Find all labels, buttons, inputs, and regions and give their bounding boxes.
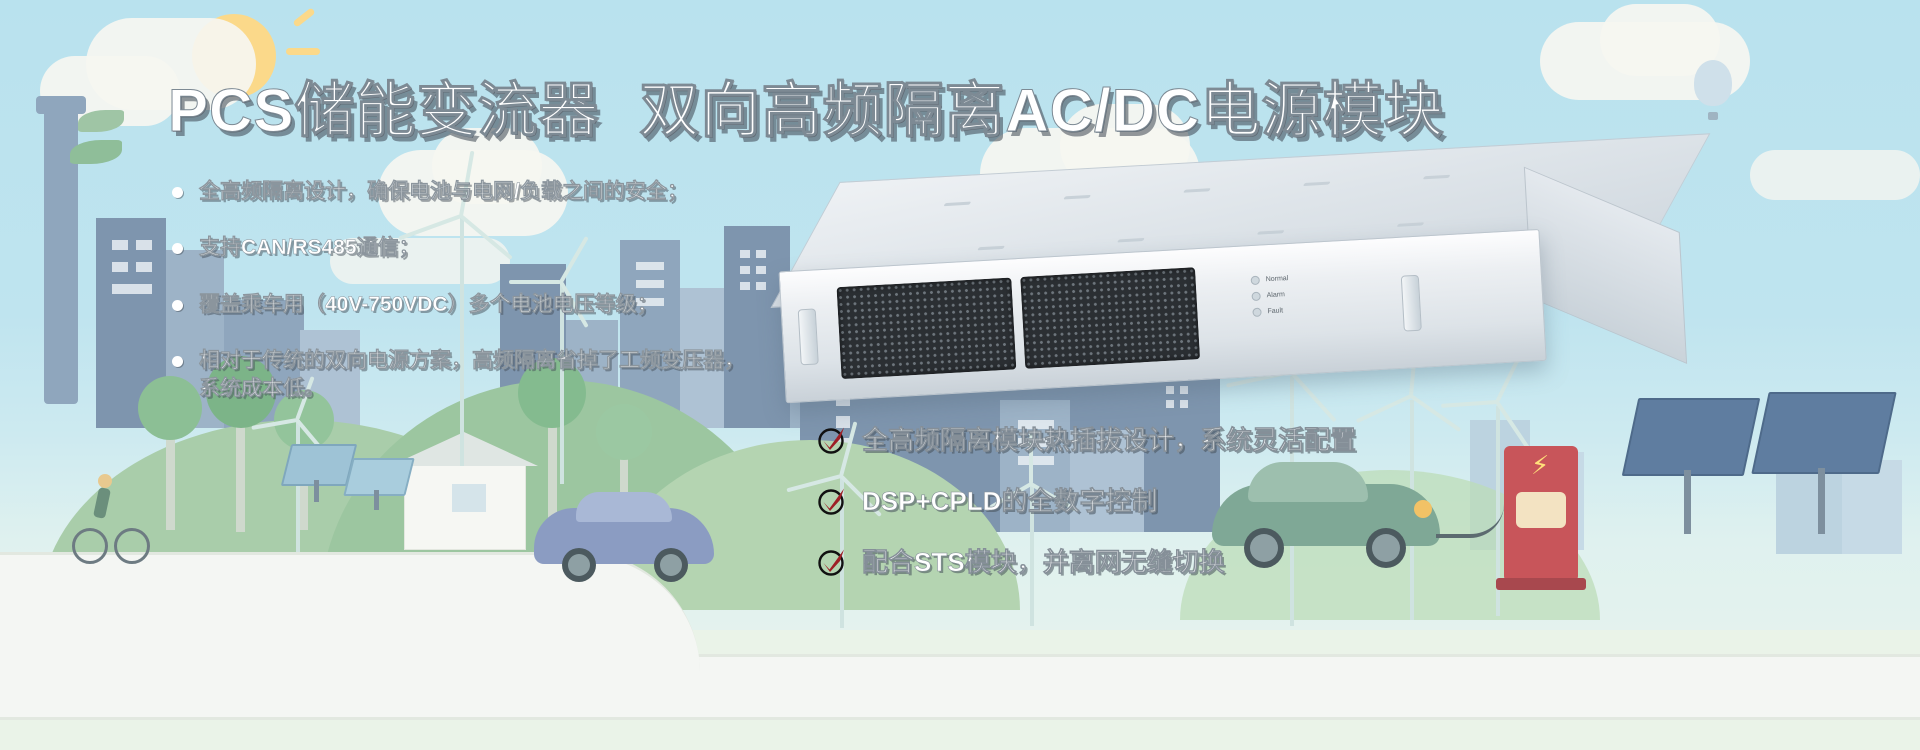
check-circle-icon (816, 544, 850, 578)
highlight-text: 配合STS模块，并离网无缝切换 (862, 542, 1225, 579)
window-shape (112, 262, 128, 272)
ev-headlight-icon (1414, 500, 1432, 518)
led-dot-icon (1252, 308, 1261, 317)
device-vent-grille (1020, 267, 1200, 369)
car-wheel-icon (562, 548, 596, 582)
feature-item: 支持CAN/RS485通信； (172, 234, 872, 262)
feature-text: 相对于传统的双向电源方案，高频隔离省掉了工频变压器，系统成本低。 (199, 347, 759, 404)
feature-item: 相对于传统的双向电源方案，高频隔离省掉了工频变压器，系统成本低。 (172, 347, 872, 404)
feature-item: 覆盖乘车用（40V-750VDC）多个电池电压等级； (172, 291, 872, 319)
solar-panel-leg (374, 490, 379, 510)
ev-charger-screen (1516, 492, 1566, 528)
bullet-dot-icon (172, 187, 183, 198)
led-indicator-row: Normal (1251, 274, 1289, 285)
feature-item: 全高频隔离设计，确保电池与电网/负载之间的安全； (172, 178, 872, 206)
title-part-1: PCS储能变流器 (168, 77, 599, 144)
highlight-item: DSP+CPLD的全数字控制 (816, 481, 1356, 518)
highlight-item: 配合STS模块，并离网无缝切换 (816, 542, 1356, 579)
cloud-shape (1750, 150, 1920, 200)
feature-text: 全高频隔离设计，确保电池与电网/负载之间的安全； (199, 178, 688, 206)
bullet-dot-icon (172, 300, 183, 311)
car-window-shape (576, 492, 672, 522)
ev-charger-base (1496, 578, 1586, 590)
window-shape (136, 240, 152, 250)
check-circle-icon (816, 483, 850, 517)
bullet-dot-icon (172, 356, 183, 367)
building-shape (1842, 460, 1902, 554)
check-circle-icon (816, 422, 850, 456)
solar-panel-icon (1622, 398, 1761, 476)
led-label-normal: Normal (1266, 275, 1289, 283)
led-dot-icon (1251, 292, 1260, 301)
led-dot-icon (1251, 276, 1260, 285)
solar-panel-leg (1684, 470, 1691, 534)
solar-panel-leg (314, 480, 319, 502)
car-wheel-icon (654, 548, 688, 582)
highlight-text: 全高频隔离模块热插拔设计，系统灵活配置 (862, 420, 1356, 457)
led-label-fault: Fault (1267, 307, 1283, 315)
leaf-shape (78, 110, 124, 132)
highlight-list: 全高频隔离模块热插拔设计，系统灵活配置 DSP+CPLD的全数字控制 配合STS… (816, 420, 1356, 603)
bullet-dot-icon (172, 243, 183, 254)
window-shape (112, 284, 152, 294)
ev-wheel-icon (1366, 528, 1406, 568)
page-title: PCS储能变流器双向高频隔离AC/DC电源模块 (168, 62, 1444, 149)
product-device-image: Normal Alarm Fault (764, 134, 1707, 436)
device-handle-right (1401, 275, 1422, 332)
title-part-2: 双向高频隔离AC/DC电源模块 (639, 77, 1444, 144)
solar-panel-leg (1818, 468, 1825, 534)
smokestack-shape (36, 96, 86, 114)
product-banner: ⚡ Normal (0, 0, 1920, 750)
sun-ray-icon (286, 48, 320, 55)
cyclist-head-icon (98, 474, 112, 488)
window-shape (112, 240, 128, 250)
feature-list: 全高频隔离设计，确保电池与电网/负载之间的安全； 支持CAN/RS485通信； … (172, 178, 872, 432)
highlight-item: 全高频隔离模块热插拔设计，系统灵活配置 (816, 420, 1356, 457)
solar-panel-icon (1751, 392, 1896, 474)
led-label-alarm: Alarm (1266, 291, 1285, 299)
solar-panel-icon (281, 444, 357, 486)
device-led-panel: Normal Alarm Fault (1251, 274, 1291, 324)
sun-ray-icon (292, 7, 315, 27)
house-window-shape (452, 484, 486, 512)
feature-text: 支持CAN/RS485通信； (199, 234, 420, 262)
feature-text: 覆盖乘车用（40V-750VDC）多个电池电压等级； (199, 291, 658, 319)
hot-air-balloon-icon (1694, 60, 1732, 120)
bicycle-wheel-icon (72, 528, 108, 564)
led-indicator-row: Alarm (1251, 290, 1289, 301)
window-shape (136, 262, 152, 272)
lightning-bolt-icon: ⚡ (1531, 452, 1549, 478)
highlight-text: DSP+CPLD的全数字控制 (862, 481, 1157, 518)
led-indicator-row: Fault (1252, 306, 1290, 317)
solar-panel-icon (343, 458, 414, 496)
bicycle-wheel-icon (114, 528, 150, 564)
leaf-shape (70, 140, 122, 164)
